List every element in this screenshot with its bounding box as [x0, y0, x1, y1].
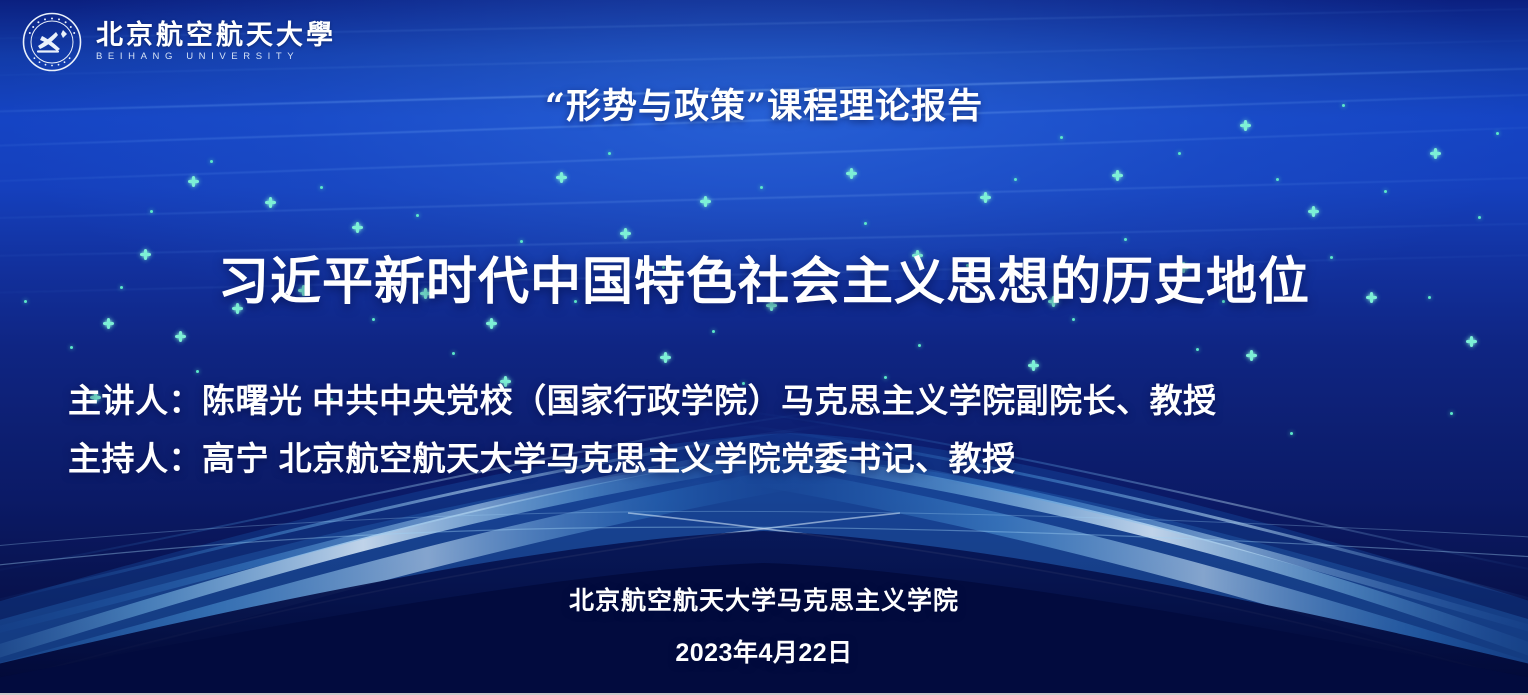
logo-name-cn: 北京航空航天大學 [96, 22, 336, 49]
speaker-line: 主讲人：陈曙光 中共中央党校（国家行政学院）马克思主义学院副院长、教授 [68, 372, 1488, 430]
footer-organization: 北京航空航天大学马克思主义学院 [0, 581, 1528, 617]
lecture-banner: 北京航空航天大學 BEIHANG UNIVERSITY “形势与政策”课程理论报… [0, 0, 1528, 695]
page-title: 习近平新时代中国特色社会主义思想的历史地位 [0, 240, 1528, 314]
banner-content: “形势与政策”课程理论报告 习近平新时代中国特色社会主义思想的历史地位 主讲人：… [0, 0, 1528, 693]
beihang-university-seal-icon [22, 12, 82, 72]
logo-name-en: BEIHANG UNIVERSITY [96, 52, 336, 62]
people-block: 主讲人：陈曙光 中共中央党校（国家行政学院）马克思主义学院副院长、教授 主持人：… [68, 372, 1488, 488]
footer-date: 2023年4月22日 [0, 633, 1528, 669]
university-logo: 北京航空航天大學 BEIHANG UNIVERSITY [22, 12, 336, 72]
banner-footer: 北京航空航天大学马克思主义学院 2023年4月22日 [0, 581, 1528, 669]
host-line: 主持人：高宁 北京航空航天大学马克思主义学院党委书记、教授 [68, 430, 1488, 488]
course-kicker: “形势与政策”课程理论报告 [0, 78, 1528, 129]
